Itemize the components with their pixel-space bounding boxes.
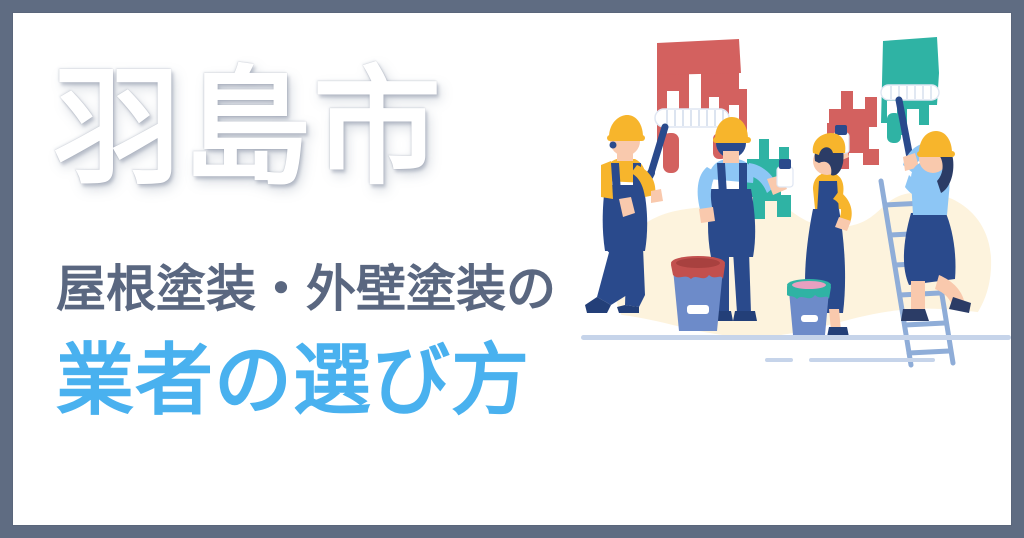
- house-painters-illustration: [581, 13, 1011, 525]
- paint-bucket-red-icon: [671, 256, 725, 331]
- ground-dashes-icon: [765, 358, 935, 362]
- banner-root: 羽島市 屋根塗装・外壁塗装の 業者の選び方: [0, 0, 1024, 538]
- subtitle-line-1: 屋根塗装・外壁塗装の: [56, 261, 616, 319]
- subtitle-line-2: 業者の選び方: [56, 339, 616, 425]
- text-block: 羽島市 屋根塗装・外壁塗装の 業者の選び方: [13, 13, 633, 525]
- ground-line-icon: [581, 335, 1011, 340]
- banner-card: 羽島市 屋根塗装・外壁塗装の 業者の選び方: [13, 13, 1011, 525]
- page-title: 羽島市: [53, 65, 593, 193]
- paint-bucket-teal-icon: [787, 279, 831, 335]
